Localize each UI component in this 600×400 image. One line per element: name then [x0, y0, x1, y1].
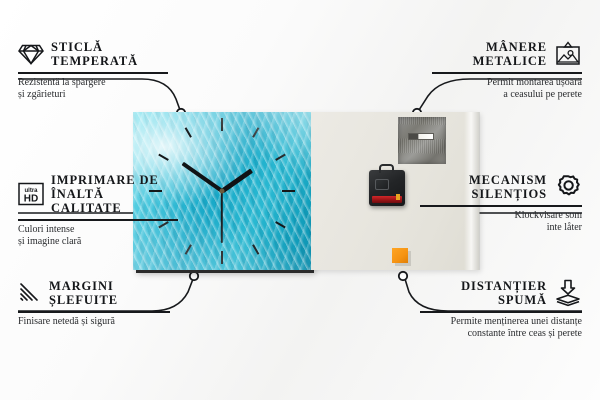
diamond-icon	[18, 43, 44, 65]
movement-shaft	[375, 179, 389, 190]
feature-subtitle: Klockvisare som inte låter	[420, 210, 582, 234]
feature-divider	[420, 205, 582, 207]
aa-battery	[372, 196, 402, 203]
feature-divider	[18, 311, 170, 313]
feature-title: STICLĂ TEMPERATĂ	[51, 40, 138, 68]
feature-divider	[18, 219, 178, 221]
picture-hanger-icon	[554, 41, 582, 67]
feature-title: DISTANȚIER SPUMĂ	[461, 279, 547, 307]
feature-divider	[420, 311, 582, 313]
infographic-canvas: STICLĂ TEMPERATĂ Rezistentă la spargere …	[0, 0, 600, 400]
feature-title: MARGINI ȘLEFUITE	[49, 279, 118, 307]
foam-spacer-icon	[554, 279, 582, 307]
feature-subtitle: Permit montarea ușoară a ceasului pe per…	[432, 77, 582, 101]
connector-dot-distantier	[399, 272, 407, 280]
feature-subtitle: Rezistentă la spargere și zgârieturi	[18, 77, 168, 101]
feature-header: MARGINI ȘLEFUITE	[18, 279, 170, 307]
svg-text:HD: HD	[24, 194, 38, 205]
clock-hour-hand	[221, 169, 253, 193]
feature-title: MECANISM SILENȚIOS	[469, 173, 547, 201]
hanger-slot	[408, 133, 434, 140]
feature-header: STICLĂ TEMPERATĂ	[18, 40, 168, 68]
feature-divider	[18, 72, 168, 74]
foam-spacer	[392, 248, 408, 263]
ultra-hd-icon: ultra HD	[18, 182, 44, 206]
polished-edges-icon	[18, 282, 42, 304]
battery-positive-tip	[396, 194, 400, 200]
clock-second-hand	[221, 191, 223, 243]
feature-title: IMPRIMARE DE ÎNALTĂ CALITATE	[51, 173, 178, 215]
feature-distantier-spuma: DISTANȚIER SPUMĂ Permite menținerea unei…	[420, 279, 582, 340]
clock-center-pin	[220, 189, 225, 194]
quartz-movement	[369, 170, 405, 206]
feature-subtitle: Culori intense și imagine clară	[18, 224, 178, 248]
connector-dot-margini	[190, 272, 198, 280]
feature-sticla-temperata: STICLĂ TEMPERATĂ Rezistentă la spargere …	[18, 40, 168, 101]
clock-minute-hand	[182, 162, 224, 193]
feature-divider	[432, 72, 582, 74]
feature-subtitle: Permite menținerea unei distanțe constan…	[420, 316, 582, 340]
feature-margini-slefuite: MARGINI ȘLEFUITE Finisare netedă și sigu…	[18, 279, 170, 328]
feature-header: MECANISM SILENȚIOS	[420, 173, 582, 201]
movement-hanging-loop	[379, 164, 394, 173]
metal-hanger-plate	[398, 117, 446, 164]
feature-mecanism-silentios: MECANISM SILENȚIOS Klockvisare som inte …	[420, 173, 582, 234]
feature-title: MÂNERE METALICE	[473, 40, 547, 68]
feature-subtitle: Finisare netedă și sigură	[18, 316, 170, 328]
feature-manere-metalice: MÂNERE METALICE Permit montarea ușoară a…	[432, 40, 582, 101]
feature-header: MÂNERE METALICE	[432, 40, 582, 68]
gear-icon	[554, 173, 582, 201]
feature-header: DISTANȚIER SPUMĂ	[420, 279, 582, 307]
feature-header: ultra HD IMPRIMARE DE ÎNALTĂ CALITATE	[18, 173, 178, 215]
feature-imprimare-hd: ultra HD IMPRIMARE DE ÎNALTĂ CALITATE Cu…	[18, 173, 178, 248]
